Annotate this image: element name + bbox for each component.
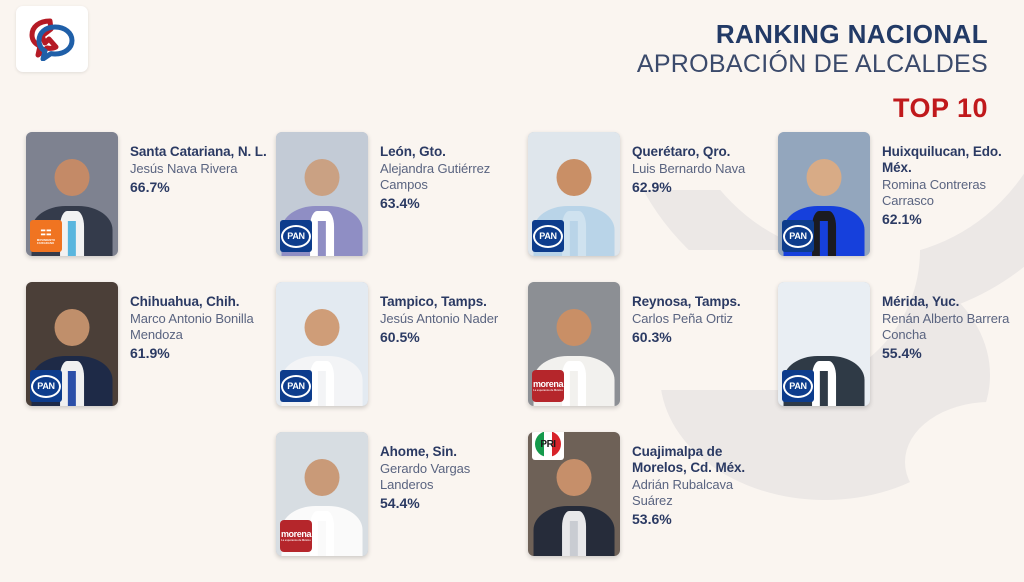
speech-bubbles-logo-icon xyxy=(27,17,77,61)
mayor-info: Santa Catariana, N. L.Jesús Nava Rivera6… xyxy=(118,132,267,195)
approval-percent: 55.4% xyxy=(882,345,1022,361)
approval-percent: 61.9% xyxy=(130,345,270,361)
mayor-name: Romina Contreras Carrasco xyxy=(882,177,1022,209)
mayor-photo: morenaLa esperanza de México xyxy=(528,282,620,406)
mayor-info: Querétaro, Qro.Luis Bernardo Nava62.9% xyxy=(620,132,745,195)
ranking-entry[interactable]: PANMérida, Yuc.Renán Alberto Barrera Con… xyxy=(778,282,1022,406)
mayor-info: Mérida, Yuc.Renán Alberto Barrera Concha… xyxy=(870,282,1022,361)
mayor-name: Alejandra Gutiérrez Campos xyxy=(380,161,520,193)
pan-emblem-icon: PAN xyxy=(533,225,563,248)
mayor-name: Adrián Rubalcava Suárez xyxy=(632,477,772,509)
city-name: Cuajimalpa de Morelos, Cd. Méx. xyxy=(632,444,777,476)
ranking-row: morenaLa esperanza de MéxicoAhome, Sin.G… xyxy=(0,432,1024,582)
ranking-entry[interactable]: PANQuerétaro, Qro.Luis Bernardo Nava62.9… xyxy=(528,132,745,256)
ranking-entry[interactable]: PANChihuahua, Chih.Marco Antonio Bonilla… xyxy=(26,282,270,406)
party-badge-pan: PAN xyxy=(782,220,814,252)
approval-percent: 60.3% xyxy=(632,329,741,345)
approval-percent: 60.5% xyxy=(380,329,498,345)
city-name: Tampico, Tamps. xyxy=(380,294,498,310)
party-badge-pan: PAN xyxy=(782,370,814,402)
mayor-name: Gerardo Vargas Landeros xyxy=(380,461,520,493)
city-name: Mérida, Yuc. xyxy=(882,294,1022,310)
mayor-name: Marco Antonio Bonilla Mendoza xyxy=(130,311,270,343)
mayor-name: Jesús Antonio Nader xyxy=(380,311,498,327)
ranking-entry[interactable]: morenaLa esperanza de MéxicoAhome, Sin.G… xyxy=(276,432,520,556)
pri-wordmark: PRI xyxy=(540,439,555,450)
ranking-entry[interactable]: morenaLa esperanza de MéxicoReynosa, Tam… xyxy=(528,282,741,406)
mayor-photo: PAN xyxy=(276,282,368,406)
mayor-photo: morenaLa esperanza de México xyxy=(276,432,368,556)
morena-wordmark: morena xyxy=(281,530,311,539)
eagle-wings-icon: ⚏ xyxy=(40,226,52,236)
mayor-photo: ⚏MOVIMIENTOCIUDADANO xyxy=(26,132,118,256)
pan-emblem-icon: PAN xyxy=(783,375,813,398)
approval-percent: 54.4% xyxy=(380,495,520,511)
city-name: Ahome, Sin. xyxy=(380,444,520,460)
pan-emblem-icon: PAN xyxy=(31,375,61,398)
party-badge-pan: PAN xyxy=(30,370,62,402)
mayor-info: Cuajimalpa de Morelos, Cd. Méx.Adrián Ru… xyxy=(620,432,777,527)
party-badge-pan: PAN xyxy=(280,370,312,402)
ranking-entry[interactable]: ⚏MOVIMIENTOCIUDADANOSanta Catariana, N. … xyxy=(26,132,267,256)
mayor-name: Renán Alberto Barrera Concha xyxy=(882,311,1022,343)
mayor-info: Ahome, Sin.Gerardo Vargas Landeros54.4% xyxy=(368,432,520,511)
mc-wordmark: MOVIMIENTOCIUDADANO xyxy=(37,239,55,246)
mayor-photo: PAN xyxy=(276,132,368,256)
ranking-row: ⚏MOVIMIENTOCIUDADANOSanta Catariana, N. … xyxy=(0,132,1024,282)
city-name: Chihuahua, Chih. xyxy=(130,294,270,310)
morena-subtext: La esperanza de México xyxy=(533,389,563,392)
approval-percent: 62.9% xyxy=(632,179,745,195)
morena-wordmark: morena xyxy=(533,380,563,389)
ranking-row: PANChihuahua, Chih.Marco Antonio Bonilla… xyxy=(0,282,1024,432)
approval-percent: 53.6% xyxy=(632,511,777,527)
pan-emblem-icon: PAN xyxy=(281,375,311,398)
pan-emblem-icon: PAN xyxy=(783,225,813,248)
mayor-info: Reynosa, Tamps.Carlos Peña Ortiz60.3% xyxy=(620,282,741,345)
mayor-photo: PRI xyxy=(528,432,620,556)
ranking-entry[interactable]: PANTampico, Tamps.Jesús Antonio Nader60.… xyxy=(276,282,498,406)
city-name: Querétaro, Qro. xyxy=(632,144,745,160)
ranking-entry[interactable]: PANLeón, Gto.Alejandra Gutiérrez Campos6… xyxy=(276,132,520,256)
header: RANKING NACIONAL APROBACIÓN DE ALCALDES … xyxy=(637,20,988,124)
party-badge-morena: morenaLa esperanza de México xyxy=(280,520,312,552)
ranking-grid: ⚏MOVIMIENTOCIUDADANOSanta Catariana, N. … xyxy=(0,132,1024,582)
mayor-info: Tampico, Tamps.Jesús Antonio Nader60.5% xyxy=(368,282,498,345)
mayor-photo: PAN xyxy=(778,282,870,406)
page-subtitle: APROBACIÓN DE ALCALDES xyxy=(637,50,988,80)
ranking-entry[interactable]: PANHuixquilucan, Edo. Méx.Romina Contrer… xyxy=(778,132,1024,256)
approval-percent: 66.7% xyxy=(130,179,267,195)
mayor-photo: PAN xyxy=(528,132,620,256)
pan-emblem-icon: PAN xyxy=(281,225,311,248)
approval-percent: 63.4% xyxy=(380,195,520,211)
mayor-info: León, Gto.Alejandra Gutiérrez Campos63.4… xyxy=(368,132,520,211)
mayor-name: Jesús Nava Rivera xyxy=(130,161,267,177)
city-name: Huixquilucan, Edo. Méx. xyxy=(882,144,1024,176)
city-name: Reynosa, Tamps. xyxy=(632,294,741,310)
party-badge-pan: PAN xyxy=(532,220,564,252)
mayor-photo: PAN xyxy=(778,132,870,256)
mayor-name: Luis Bernardo Nava xyxy=(632,161,745,177)
brand-logo xyxy=(16,6,88,72)
party-badge-morena: morenaLa esperanza de México xyxy=(532,370,564,402)
top-ten-label: TOP 10 xyxy=(637,93,988,124)
mayor-photo: PAN xyxy=(26,282,118,406)
mayor-name: Carlos Peña Ortiz xyxy=(632,311,741,327)
page-title: RANKING NACIONAL xyxy=(637,20,988,49)
party-badge-mc: ⚏MOVIMIENTOCIUDADANO xyxy=(30,220,62,252)
city-name: León, Gto. xyxy=(380,144,520,160)
mayor-info: Huixquilucan, Edo. Méx.Romina Contreras … xyxy=(870,132,1024,227)
party-badge-pan: PAN xyxy=(280,220,312,252)
approval-percent: 62.1% xyxy=(882,211,1024,227)
morena-subtext: La esperanza de México xyxy=(281,539,311,542)
ranking-entry[interactable]: PRICuajimalpa de Morelos, Cd. Méx.Adrián… xyxy=(528,432,777,556)
party-badge-pri: PRI xyxy=(532,432,564,460)
mayor-info: Chihuahua, Chih.Marco Antonio Bonilla Me… xyxy=(118,282,270,361)
city-name: Santa Catariana, N. L. xyxy=(130,144,267,160)
